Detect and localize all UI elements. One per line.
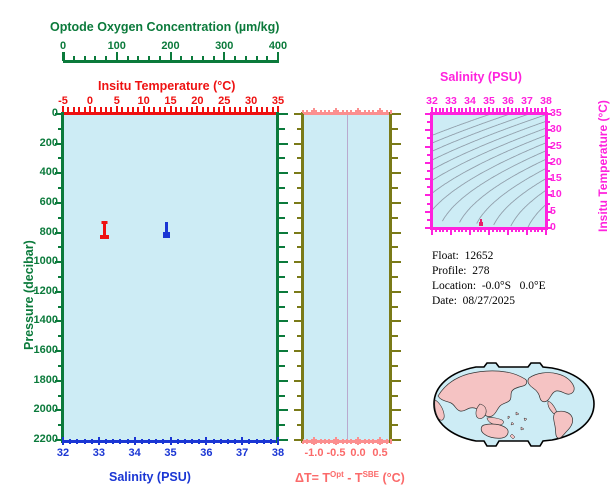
ts-x-minor-tick-top-19 — [503, 108, 505, 112]
oxygen-tick-label-300: 300 — [204, 40, 244, 52]
ts-x-major-tick-bottom-36 — [507, 228, 509, 235]
ts-x-major-tick-bottom-35 — [488, 228, 490, 235]
delta-t-right-minor-tick-9 — [392, 246, 398, 248]
delta-t-left-minor-tick-1 — [297, 128, 303, 130]
ts-x-minor-tick-top-16 — [492, 108, 494, 112]
delta-t-minor-tick-1 — [306, 439, 308, 444]
delta-t-right-major-tick-6 — [392, 291, 401, 293]
delta-t-minor-tick-top-2 — [311, 110, 313, 114]
pressure-tick-label-2000: 2000 — [18, 403, 58, 415]
ts-x-minor-tick-bottom-23 — [518, 228, 520, 232]
ts-x-minor-tick-top-18 — [499, 108, 501, 112]
ts-y-minor-tick-left-13 — [427, 121, 432, 123]
oxygen-tick-label-400: 400 — [258, 40, 298, 52]
delta-t-minor-tick-top-15 — [368, 110, 370, 114]
pressure-minor-tick-right-5 — [279, 187, 285, 189]
pressure-minor-tick-right-19 — [279, 395, 285, 397]
pressure-tick-label-1000: 1000 — [18, 255, 58, 267]
delta-t-right-major-tick-0 — [392, 113, 401, 115]
delta-t-right-minor-tick-21 — [392, 424, 398, 426]
delta-t-minor-tick-16 — [372, 439, 374, 444]
oxygen-minor-tick-16 — [234, 56, 236, 61]
delta-t-right-minor-tick-19 — [392, 395, 398, 397]
ts-x-minor-tick-bottom-9 — [465, 228, 467, 232]
pressure-tick-label-0: 0 — [18, 107, 58, 119]
delta-t-minor-tick-15 — [368, 439, 370, 444]
delta-t-title-sup-opt: Opt — [330, 470, 344, 479]
delta-t-minor-tick-14 — [364, 439, 366, 444]
delta-t-minor-tick-12 — [355, 439, 357, 444]
pressure-tick-label-200: 200 — [18, 137, 58, 149]
ts-y-major-tick-left-25 — [425, 146, 432, 148]
ts-y-minor-tick-left-7 — [427, 170, 432, 172]
oxygen-minor-tick-1 — [73, 56, 75, 61]
location-line: Location: -0.0°S 0.0°E — [432, 279, 546, 294]
float-metadata-block: Float: 12652 Profile: 278 Location: -0.0… — [432, 249, 546, 309]
delta-t-minor-tick-top-18 — [381, 110, 383, 114]
delta-t-left-major-tick-10 — [294, 409, 303, 411]
pressure-major-tick-right-2000 — [279, 409, 288, 411]
ts-x-minor-tick-bottom-26 — [530, 228, 532, 232]
salinity-tick-label-35: 35 — [156, 447, 186, 459]
delta-t-right-major-tick-11 — [392, 439, 401, 441]
pressure-minor-tick-right-3 — [279, 157, 285, 159]
ts-x-minor-tick-top-29 — [541, 108, 543, 112]
ts-x-minor-tick-top-6 — [454, 108, 456, 112]
temperature-axis-title: Insitu Temperature (°C) — [98, 79, 235, 93]
ts-x-minor-tick-top-26 — [530, 108, 532, 112]
pressure-tick-label-800: 800 — [18, 226, 58, 238]
ts-x-minor-tick-bottom-7 — [458, 228, 460, 232]
pressure-minor-tick-right-1 — [279, 128, 285, 130]
oxygen-major-tick-100 — [116, 52, 118, 61]
delta-t-minor-tick-5 — [324, 439, 326, 444]
ts-y-major-tick-right-20 — [546, 162, 552, 164]
delta-t-minor-tick-top-17 — [377, 110, 379, 114]
ts-y-minor-tick-left-1 — [427, 219, 432, 221]
delta-t-minor-tick-top-19 — [386, 110, 388, 114]
delta-t-right-major-tick-2 — [392, 172, 401, 174]
pressure-minor-tick-right-11 — [279, 276, 285, 278]
delta-t-minor-tick-top-11 — [350, 110, 352, 114]
oxygen-minor-tick-9 — [159, 56, 161, 61]
delta-t-left-major-tick-9 — [294, 380, 303, 382]
delta-t-title-sup-sbe: SBE — [363, 470, 379, 479]
delta-t-minor-tick-top-12 — [355, 110, 357, 114]
profile-number-line: Profile: 278 — [432, 264, 546, 279]
ts-x-minor-tick-bottom-13 — [480, 228, 482, 232]
ts-x-minor-tick-top-9 — [465, 108, 467, 112]
delta-t-left-minor-tick-13 — [297, 306, 303, 308]
ts-x-major-tick-bottom-32 — [431, 228, 433, 235]
ts-x-major-tick-top-35 — [488, 107, 490, 114]
pressure-minor-tick-right-15 — [279, 335, 285, 337]
oxygen-minor-tick-6 — [127, 56, 129, 61]
ts-x-minor-tick-bottom-8 — [461, 228, 463, 232]
delta-t-minor-tick-19 — [386, 439, 388, 444]
ts-x-minor-tick-top-17 — [496, 108, 498, 112]
oxygen-major-tick-200 — [170, 52, 172, 61]
pressure-major-tick-right-0 — [279, 113, 288, 115]
salinity-tick-label-38: 38 — [263, 447, 293, 459]
oxygen-axis-title: Optode Oxygen Concentration (µm/kg) — [50, 20, 279, 34]
pressure-minor-tick-right-9 — [279, 246, 285, 248]
delta-t-right-major-tick-9 — [392, 380, 401, 382]
delta-t-title-tail: (°C) — [379, 471, 405, 485]
delta-t-minor-tick-3 — [315, 439, 317, 444]
delta-t-left-minor-tick-9 — [297, 246, 303, 248]
oxygen-minor-tick-4 — [105, 56, 107, 61]
delta-t-right-major-tick-8 — [392, 350, 401, 352]
delta-t-left-major-tick-8 — [294, 350, 303, 352]
ts-y-minor-tick-left-11 — [427, 137, 432, 139]
delta-t-right-major-tick-4 — [392, 232, 401, 234]
pressure-minor-tick-right-7 — [279, 217, 285, 219]
ts-y-major-tick-left-30 — [425, 129, 432, 131]
ts-diagram-frame — [430, 112, 548, 230]
ts-x-minor-tick-bottom-17 — [496, 228, 498, 232]
ts-x-major-tick-bottom-37 — [526, 228, 528, 235]
delta-t-minor-tick-top-9 — [342, 110, 344, 114]
salinity-axis-title: Salinity (PSU) — [109, 470, 191, 484]
ts-y-major-tick-left-35 — [425, 113, 432, 115]
ts-y-major-tick-right-5 — [546, 211, 552, 213]
delta-t-minor-tick-top-8 — [337, 110, 339, 114]
delta-t-minor-tick-18 — [381, 439, 383, 444]
ts-x-major-tick-top-37 — [526, 107, 528, 114]
salinity-data-marker — [163, 222, 170, 238]
ts-x-minor-tick-bottom-12 — [477, 228, 479, 232]
delta-t-title-mid: - T — [344, 471, 363, 485]
oxygen-minor-tick-12 — [191, 56, 193, 61]
delta-t-minor-tick-13 — [359, 439, 361, 444]
pressure-major-tick-right-1600 — [279, 350, 288, 352]
delta-t-axis-title: ΔT= TOpt - TSBE (°C) — [295, 470, 405, 485]
delta-t-minor-tick-4 — [320, 439, 322, 444]
delta-t-tick-label-0p5: 0.5 — [363, 447, 397, 459]
ts-diagram-ylabel: Insitu Temperature (°C) — [596, 100, 610, 232]
pressure-tick-label-1800: 1800 — [18, 374, 58, 386]
delta-t-left-minor-tick-21 — [297, 424, 303, 426]
delta-t-right-major-tick-3 — [392, 202, 401, 204]
delta-t-left-major-tick-11 — [294, 439, 303, 441]
oxygen-minor-tick-7 — [137, 56, 139, 61]
ts-x-minor-tick-bottom-27 — [534, 228, 536, 232]
delta-t-left-major-tick-6 — [294, 291, 303, 293]
delta-t-left-minor-tick-15 — [297, 335, 303, 337]
pressure-major-tick-right-1000 — [279, 261, 288, 263]
delta-t-right-major-tick-1 — [392, 143, 401, 145]
oxygen-tick-label-200: 200 — [151, 40, 191, 52]
oxygen-tick-label-0: 0 — [43, 40, 83, 52]
oxygen-minor-tick-8 — [148, 56, 150, 61]
pressure-tick-label-600: 600 — [18, 196, 58, 208]
delta-t-minor-tick-top-3 — [315, 110, 317, 114]
ts-y-major-tick-left-15 — [425, 178, 432, 180]
ts-y-minor-tick-right-7 — [546, 170, 550, 172]
ts-x-minor-tick-bottom-6 — [454, 228, 456, 232]
delta-t-minor-tick-10 — [346, 439, 348, 444]
pressure-major-tick-right-1800 — [279, 380, 288, 382]
pressure-major-tick-right-2200 — [279, 439, 288, 441]
pressure-major-tick-right-800 — [279, 232, 288, 234]
delta-t-minor-tick-top-14 — [364, 110, 366, 114]
delta-t-right-minor-tick-3 — [392, 157, 398, 159]
ts-x-minor-tick-top-3 — [442, 108, 444, 112]
ts-y-minor-tick-right-5 — [546, 186, 550, 188]
ts-x-minor-tick-top-1 — [435, 108, 437, 112]
pressure-major-tick-right-400 — [279, 172, 288, 174]
delta-t-left-minor-tick-3 — [297, 157, 303, 159]
delta-t-minor-tick-top-4 — [320, 110, 322, 114]
delta-t-left-major-tick-5 — [294, 261, 303, 263]
pressure-tick-label-1400: 1400 — [18, 314, 58, 326]
salinity-tick-label-36: 36 — [191, 447, 221, 459]
salinity-tick-label-33: 33 — [84, 447, 114, 459]
delta-t-left-major-tick-0 — [294, 113, 303, 115]
pressure-tick-label-1200: 1200 — [18, 285, 58, 297]
temperature-data-marker — [100, 221, 109, 239]
delta-t-left-minor-tick-7 — [297, 217, 303, 219]
ts-x-minor-tick-bottom-14 — [484, 228, 486, 232]
oxygen-minor-tick-19 — [266, 56, 268, 61]
delta-t-zero-reference-line — [347, 115, 348, 439]
ts-x-minor-tick-top-23 — [518, 108, 520, 112]
ts-y-major-tick-left-0 — [425, 227, 432, 229]
delta-t-minor-tick-top-6 — [328, 110, 330, 114]
delta-t-right-minor-tick-13 — [392, 306, 398, 308]
delta-t-left-minor-tick-11 — [297, 276, 303, 278]
delta-t-minor-tick-11 — [350, 439, 352, 444]
ts-y-minor-tick-left-3 — [427, 203, 432, 205]
delta-t-minor-tick-9 — [342, 439, 344, 444]
delta-t-right-major-tick-5 — [392, 261, 401, 263]
delta-t-right-minor-tick-17 — [392, 365, 398, 367]
delta-t-minor-tick-17 — [377, 439, 379, 444]
ts-y-major-tick-left-20 — [425, 162, 432, 164]
oxygen-axis-cap-right — [277, 52, 279, 61]
ts-y-major-tick-left-5 — [425, 211, 432, 213]
delta-t-title-lead: ΔT= T — [295, 471, 330, 485]
delta-t-minor-tick-8 — [337, 439, 339, 444]
delta-t-right-minor-tick-15 — [392, 335, 398, 337]
ts-x-minor-tick-top-2 — [439, 108, 441, 112]
ts-x-minor-tick-top-11 — [473, 108, 475, 112]
ts-y-minor-tick-right-1 — [546, 219, 550, 221]
ts-x-major-tick-top-33 — [450, 107, 452, 114]
delta-t-left-major-tick-4 — [294, 232, 303, 234]
ts-x-minor-tick-bottom-21 — [511, 228, 513, 232]
ts-x-minor-tick-bottom-2 — [439, 228, 441, 232]
pressure-tick-label-400: 400 — [18, 166, 58, 178]
ts-x-major-tick-bottom-33 — [450, 228, 452, 235]
ts-x-minor-tick-top-22 — [515, 108, 517, 112]
delta-t-right-minor-tick-5 — [392, 187, 398, 189]
salinity-tick-label-34: 34 — [120, 447, 150, 459]
delta-t-right-major-tick-10 — [392, 409, 401, 411]
delta-t-minor-tick-top-1 — [306, 110, 308, 114]
oxygen-minor-tick-18 — [256, 56, 258, 61]
ts-y-minor-tick-right-13 — [546, 121, 550, 123]
oxygen-minor-tick-2 — [84, 56, 86, 61]
ts-y-major-tick-right-0 — [546, 227, 552, 229]
ts-x-minor-tick-bottom-11 — [473, 228, 475, 232]
ts-y-minor-tick-right-11 — [546, 137, 550, 139]
ts-x-minor-tick-bottom-18 — [499, 228, 501, 232]
ts-x-minor-tick-top-7 — [458, 108, 460, 112]
delta-t-left-minor-tick-17 — [297, 365, 303, 367]
delta-t-minor-tick-7 — [333, 439, 335, 444]
ts-x-minor-tick-top-21 — [511, 108, 513, 112]
pressure-minor-tick-right-13 — [279, 306, 285, 308]
ts-x-minor-tick-top-13 — [480, 108, 482, 112]
delta-t-minor-tick-top-13 — [359, 110, 361, 114]
ts-x-minor-tick-bottom-22 — [515, 228, 517, 232]
ts-x-minor-tick-top-12 — [477, 108, 479, 112]
delta-t-minor-tick-top-10 — [346, 110, 348, 114]
ts-x-minor-tick-bottom-28 — [537, 228, 539, 232]
salinity-tick-label-32: 32 — [48, 447, 78, 459]
ts-x-minor-tick-bottom-3 — [442, 228, 444, 232]
oxygen-axis-cap-left — [63, 52, 65, 61]
pressure-tick-label-1600: 1600 — [18, 344, 58, 356]
pressure-major-tick-right-1200 — [279, 291, 288, 293]
oxygen-tick-label-100: 100 — [97, 40, 137, 52]
ts-x-minor-tick-bottom-1 — [435, 228, 437, 232]
world-map — [424, 352, 604, 457]
ts-diagram-title: Salinity (PSU) — [440, 70, 522, 84]
delta-t-left-major-tick-7 — [294, 320, 303, 322]
salinity-tick-label-37: 37 — [227, 447, 257, 459]
oxygen-major-tick-300 — [223, 52, 225, 61]
ts-y-major-tick-right-10 — [546, 194, 552, 196]
delta-t-minor-tick-2 — [311, 439, 313, 444]
ts-x-minor-tick-bottom-4 — [446, 228, 448, 232]
ts-x-tick-label-38: 38 — [535, 95, 557, 107]
pressure-major-tick-right-600 — [279, 202, 288, 204]
pressure-major-tick-right-200 — [279, 143, 288, 145]
ts-x-minor-tick-bottom-16 — [492, 228, 494, 232]
delta-t-minor-tick-top-5 — [324, 110, 326, 114]
world-map-svg — [424, 352, 604, 457]
delta-t-minor-tick-top-16 — [372, 110, 374, 114]
pressure-major-tick-right-1400 — [279, 320, 288, 322]
ts-y-major-tick-right-35 — [546, 113, 552, 115]
ts-y-major-tick-right-25 — [546, 146, 552, 148]
oxygen-minor-tick-13 — [202, 56, 204, 61]
delta-t-left-major-tick-3 — [294, 202, 303, 204]
ts-x-minor-tick-top-14 — [484, 108, 486, 112]
ts-y-major-tick-left-10 — [425, 194, 432, 196]
ts-y-major-tick-right-15 — [546, 178, 552, 180]
ts-y-major-tick-right-30 — [546, 129, 552, 131]
delta-t-left-minor-tick-19 — [297, 395, 303, 397]
ts-y-minor-tick-left-9 — [427, 154, 432, 156]
delta-t-left-major-tick-1 — [294, 143, 303, 145]
ts-x-minor-tick-top-24 — [522, 108, 524, 112]
ts-x-minor-tick-top-8 — [461, 108, 463, 112]
delta-t-right-major-tick-7 — [392, 320, 401, 322]
delta-t-minor-tick-top-7 — [333, 110, 335, 114]
oxygen-minor-tick-17 — [245, 56, 247, 61]
ts-x-minor-tick-bottom-29 — [541, 228, 543, 232]
ts-x-minor-tick-top-4 — [446, 108, 448, 112]
ts-x-major-tick-top-36 — [507, 107, 509, 114]
ts-y-minor-tick-right-3 — [546, 203, 550, 205]
main-profile-data-markers — [63, 114, 278, 440]
delta-t-right-minor-tick-7 — [392, 217, 398, 219]
pressure-tick-label-2200: 2200 — [18, 433, 58, 445]
ts-y-minor-tick-left-5 — [427, 186, 432, 188]
ts-x-major-tick-bottom-38 — [545, 228, 547, 235]
delta-t-left-minor-tick-5 — [297, 187, 303, 189]
delta-t-minor-tick-6 — [328, 439, 330, 444]
date-line: Date: 08/27/2025 — [432, 294, 546, 309]
oxygen-minor-tick-14 — [213, 56, 215, 61]
ts-x-minor-tick-bottom-19 — [503, 228, 505, 232]
float-id-line: Float: 12652 — [432, 249, 546, 264]
ts-x-minor-tick-top-27 — [534, 108, 536, 112]
ts-y-minor-tick-right-9 — [546, 154, 550, 156]
ts-x-major-tick-bottom-34 — [469, 228, 471, 235]
pressure-minor-tick-right-21 — [279, 424, 285, 426]
ts-x-minor-tick-bottom-24 — [522, 228, 524, 232]
oxygen-minor-tick-11 — [180, 56, 182, 61]
ts-x-major-tick-top-34 — [469, 107, 471, 114]
delta-t-right-minor-tick-11 — [392, 276, 398, 278]
oxygen-minor-tick-3 — [94, 56, 96, 61]
pressure-minor-tick-right-17 — [279, 365, 285, 367]
ts-x-minor-tick-top-28 — [537, 108, 539, 112]
delta-t-right-minor-tick-1 — [392, 128, 398, 130]
delta-t-left-major-tick-2 — [294, 172, 303, 174]
